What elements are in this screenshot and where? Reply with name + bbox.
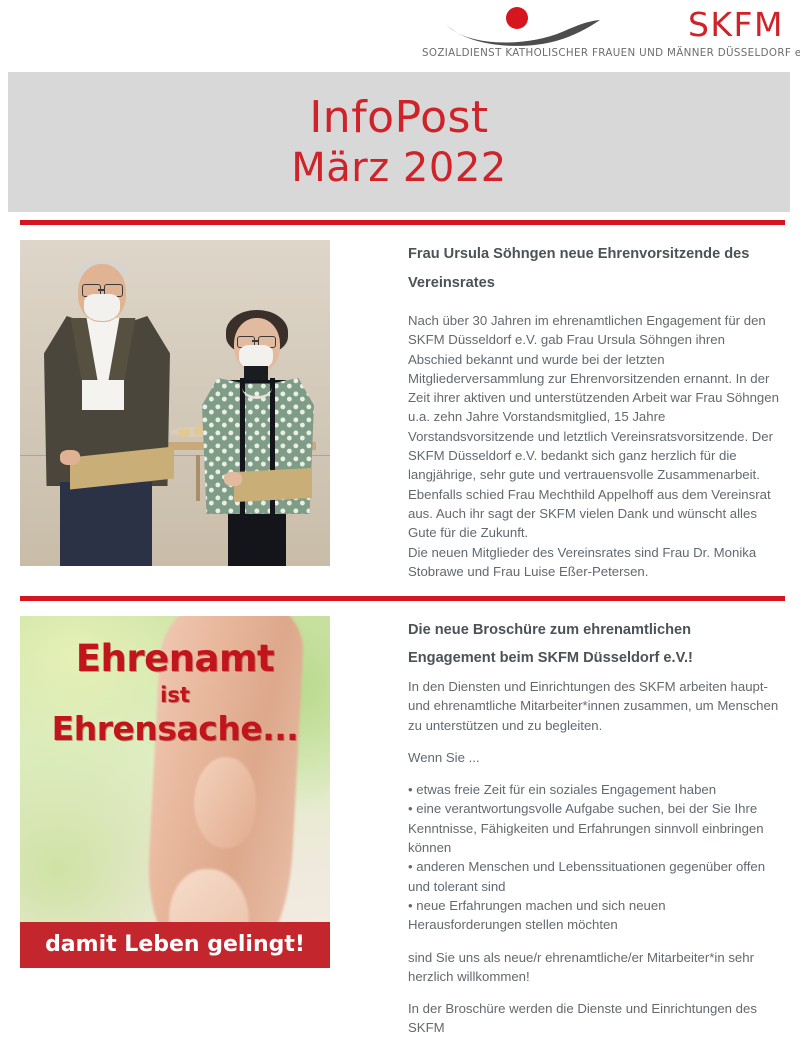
article-poster-ehrenamt: Ehrenamt ist Ehrensache... damit Leben g…: [20, 616, 330, 968]
womans-glasses-bridge: [252, 340, 259, 342]
mans-glasses-bridge: [98, 289, 105, 291]
article-2-bullet-1: • etwas freie Zeit für ein soziales Enga…: [408, 780, 780, 799]
article-2-closing: sind Sie uns als neue/r ehrenamtliche/er…: [408, 948, 780, 987]
article-1-body: Frau Ursula Söhngen neue Ehrenvorsitzend…: [408, 240, 780, 581]
article-2-bullet-2: • eine verantwortungsvolle Aufgabe suche…: [408, 799, 780, 857]
photo-scene: [20, 240, 330, 566]
spacer: [408, 935, 780, 948]
section-divider-top: [20, 220, 785, 225]
skfm-wordmark: SKFM: [688, 6, 784, 44]
skfm-swoosh-logo-icon: [428, 6, 618, 48]
article-2-bullet-3: • anderen Menschen und Lebenssituationen…: [408, 857, 780, 896]
infopost-banner: InfoPost März 2022: [8, 72, 790, 212]
article-1-text: Nach über 30 Jahren im ehrenamtlichen En…: [408, 311, 780, 581]
poster-footer-slogan: damit Leben gelingt!: [20, 922, 330, 968]
article-photo-award-ceremony: [20, 240, 330, 566]
spacer: [408, 735, 780, 748]
spacer: [408, 298, 780, 311]
section-divider-middle: [20, 596, 785, 601]
poster-line-ehrenamt: Ehrenamt: [20, 637, 330, 681]
spacer: [408, 767, 780, 780]
spacer: [408, 986, 780, 999]
certificate-folder-woman: [234, 468, 312, 502]
article-1-heading: Frau Ursula Söhngen neue Ehrenvorsitzend…: [408, 240, 780, 298]
article-2-heading: Die neue Broschüre zum ehrenamtlichen En…: [408, 616, 780, 672]
skfm-tagline: SOZIALDIENST KATHOLISCHER FRAUEN UND MÄN…: [422, 47, 786, 59]
poster-line-ist: ist: [20, 681, 330, 709]
mans-ffp2-mask: [84, 294, 120, 321]
mans-trousers: [60, 482, 152, 566]
article-2-bullet-4: • neue Erfahrungen machen und sich neuen…: [408, 896, 780, 935]
poster-headline-block: Ehrenamt ist Ehrensache...: [20, 637, 330, 749]
page-issue-date: März 2022: [291, 144, 506, 192]
adult-thumb: [194, 757, 256, 849]
mans-hand: [60, 450, 80, 465]
article-2-prompt: Wenn Sie ...: [408, 748, 780, 767]
article-2-intro: In den Diensten und Einrichtungen des SK…: [408, 677, 780, 735]
article-2-tail: In der Broschüre werden die Dienste und …: [408, 999, 780, 1038]
page-title: InfoPost: [309, 92, 488, 144]
poster-line-ehrensache: Ehrensache...: [20, 709, 330, 749]
womans-pearl-necklace: [242, 376, 272, 399]
person-female-honoree: [196, 310, 324, 566]
poster-image: Ehrenamt ist Ehrensache... damit Leben g…: [20, 616, 330, 968]
article-2-body: Die neue Broschüre zum ehrenamtlichen En…: [408, 616, 780, 1038]
womans-hand: [224, 472, 242, 486]
person-male-with-certificate: [34, 254, 184, 566]
page-header: SKFM SOZIALDIENST KATHOLISCHER FRAUEN UN…: [0, 0, 800, 72]
skfm-logo: SKFM SOZIALDIENST KATHOLISCHER FRAUEN UN…: [418, 4, 788, 68]
